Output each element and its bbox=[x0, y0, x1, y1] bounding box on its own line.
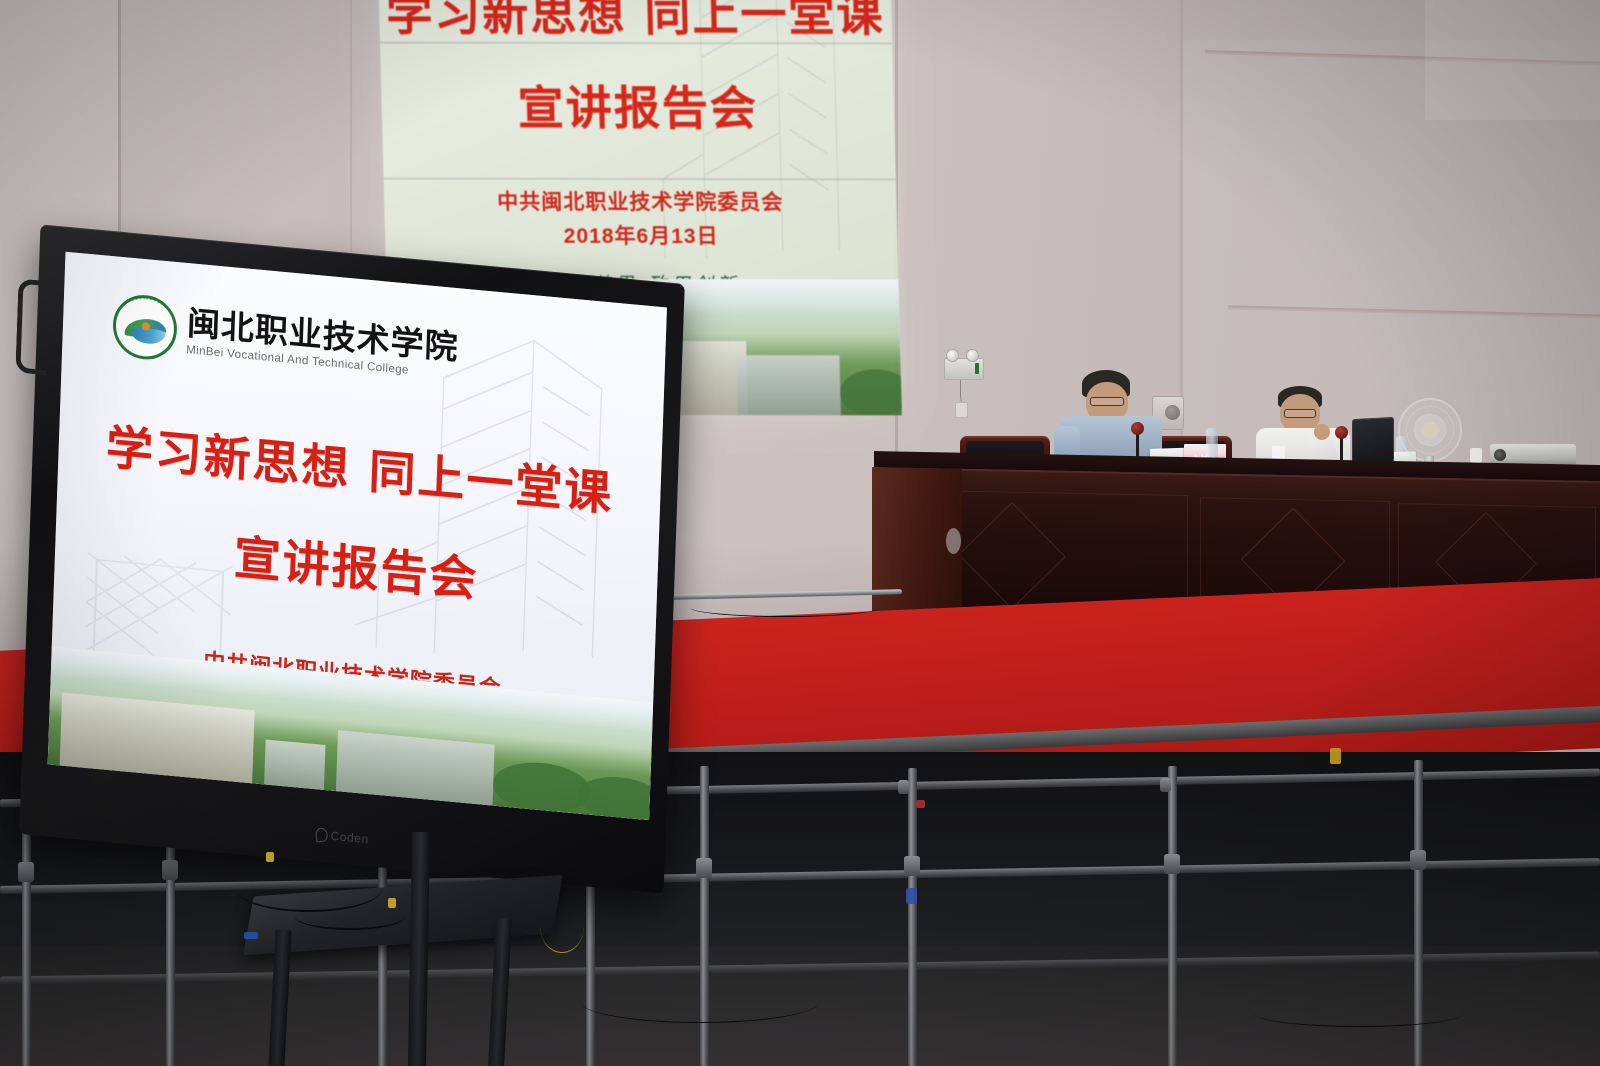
college-logo-icon bbox=[112, 292, 178, 362]
scaffold-tape-red bbox=[916, 800, 925, 808]
power-outlet bbox=[955, 402, 968, 418]
scaffold-post-7 bbox=[1168, 766, 1177, 1066]
floor-cable-a bbox=[690, 598, 880, 617]
scaffold-tape-yellow bbox=[1330, 748, 1341, 764]
glasses-icon bbox=[1090, 397, 1124, 406]
glasses-icon bbox=[1284, 409, 1316, 418]
campus-tree-1 bbox=[493, 759, 591, 815]
display-side-handle[interactable] bbox=[15, 278, 49, 375]
electric-fan bbox=[1398, 398, 1462, 462]
wall-panel-far-right bbox=[1425, 0, 1600, 120]
cable-tie bbox=[244, 932, 258, 939]
scaffold-post-6 bbox=[908, 768, 917, 1066]
scaffold-clamp-6 bbox=[1410, 850, 1426, 870]
display-cable-yellow bbox=[540, 900, 584, 953]
presentation-slide: 闽北职业技术学院 MinBei Vocational And Technical… bbox=[48, 252, 667, 820]
projection-organizer: 中共闽北职业技术学院委员会 bbox=[384, 186, 897, 217]
photo-scene: 闽北职业技术学院 MinBei Vocational And Technical… bbox=[0, 0, 1600, 1066]
projection-date: 2018年6月13日 bbox=[385, 220, 898, 251]
projection-title-line2: 宣讲报告会 bbox=[381, 72, 895, 139]
floor-cable-b bbox=[580, 980, 820, 1023]
table-cable-grommet bbox=[946, 528, 961, 554]
display-cable-2 bbox=[294, 902, 406, 930]
floor-cable-c bbox=[1254, 1000, 1464, 1027]
cable-connector-2 bbox=[266, 852, 274, 862]
scaffold-clamp-3 bbox=[696, 858, 712, 878]
scaffold-clamp-4 bbox=[904, 856, 920, 876]
scaffold-clamp-5 bbox=[1164, 854, 1180, 874]
projection-title-line1: 学习新思想 同上一堂课 bbox=[378, 0, 892, 44]
display-screen[interactable]: 闽北职业技术学院 MinBei Vocational And Technical… bbox=[48, 252, 667, 820]
scaffold-tape-blue bbox=[906, 888, 917, 904]
scaffold-clamp-9 bbox=[1160, 778, 1171, 792]
brand-mark-icon bbox=[315, 828, 328, 843]
hand bbox=[1314, 424, 1330, 440]
scaffold-clamp-1 bbox=[18, 862, 34, 882]
campus-building-2 bbox=[264, 740, 326, 790]
emergency-light bbox=[944, 358, 984, 380]
scaffold-clamp-2 bbox=[162, 860, 178, 880]
interactive-flat-panel-display[interactable]: 闽北职业技术学院 MinBei Vocational And Technical… bbox=[19, 224, 685, 893]
scaffold-clamp-8 bbox=[898, 780, 909, 794]
